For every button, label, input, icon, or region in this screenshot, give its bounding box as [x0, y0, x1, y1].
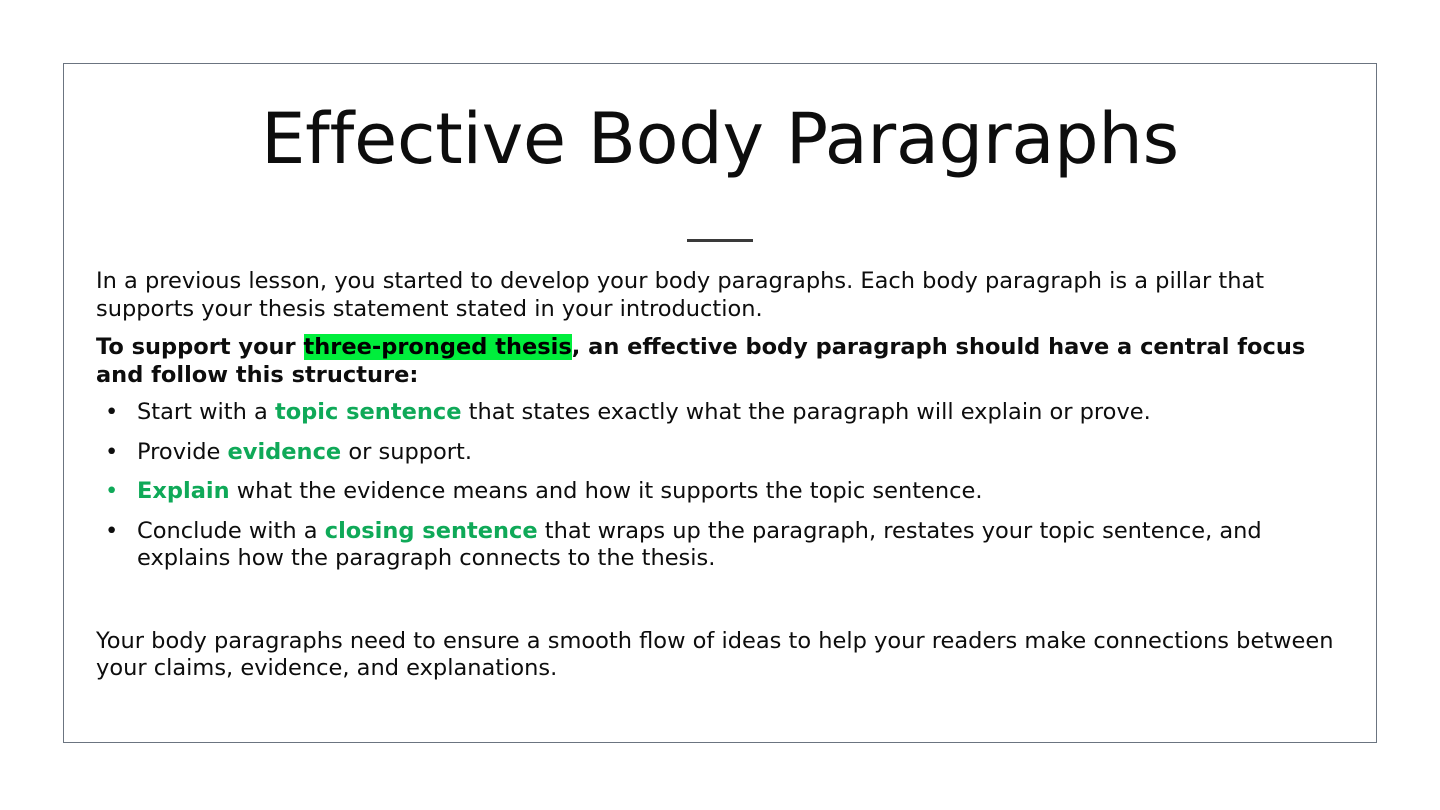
intro-paragraph: In a previous lesson, you started to dev…: [96, 268, 1346, 323]
paragraph-spacer: [96, 573, 1346, 628]
page-title: Effective Body Paragraphs: [64, 104, 1376, 174]
list-item-part2: or support.: [341, 439, 472, 465]
lead-paragraph: To support your three-pronged thesis, an…: [96, 334, 1346, 389]
list-item: •Explain what the evidence means and how…: [96, 478, 1346, 506]
accent-term-evidence: evidence: [228, 439, 342, 465]
list-item-part1: Conclude with a: [137, 518, 325, 544]
accent-term-explain: Explain: [137, 478, 230, 504]
bullet-icon: •: [105, 478, 118, 506]
slide-frame: Effective Body Paragraphs In a previous …: [63, 63, 1377, 743]
list-item-part1: Provide: [137, 439, 228, 465]
accent-term-topic-sentence: topic sentence: [275, 399, 462, 425]
body-content: In a previous lesson, you started to dev…: [96, 268, 1346, 683]
list-item-part2: what the evidence means and how it suppo…: [230, 478, 983, 504]
bullet-icon: •: [105, 518, 118, 546]
outro-paragraph: Your body paragraphs need to ensure a sm…: [96, 628, 1346, 683]
highlighted-term-three-pronged-thesis: three-pronged thesis: [304, 334, 572, 360]
lead-paragraph-part1: To support your: [96, 334, 304, 360]
list-item: •Conclude with a closing sentence that w…: [96, 518, 1346, 573]
title-divider-rule: [687, 239, 753, 242]
list-item-part1: Start with a: [137, 399, 275, 425]
slide-canvas: Effective Body Paragraphs In a previous …: [0, 0, 1440, 810]
list-item: •Start with a topic sentence that states…: [96, 399, 1346, 427]
list-item: •Provide evidence or support.: [96, 439, 1346, 467]
bullet-icon: •: [105, 399, 118, 427]
list-item-part2: that states exactly what the paragraph w…: [461, 399, 1150, 425]
bullet-icon: •: [105, 439, 118, 467]
accent-term-closing-sentence: closing sentence: [325, 518, 538, 544]
structure-bullet-list: •Start with a topic sentence that states…: [96, 399, 1346, 573]
